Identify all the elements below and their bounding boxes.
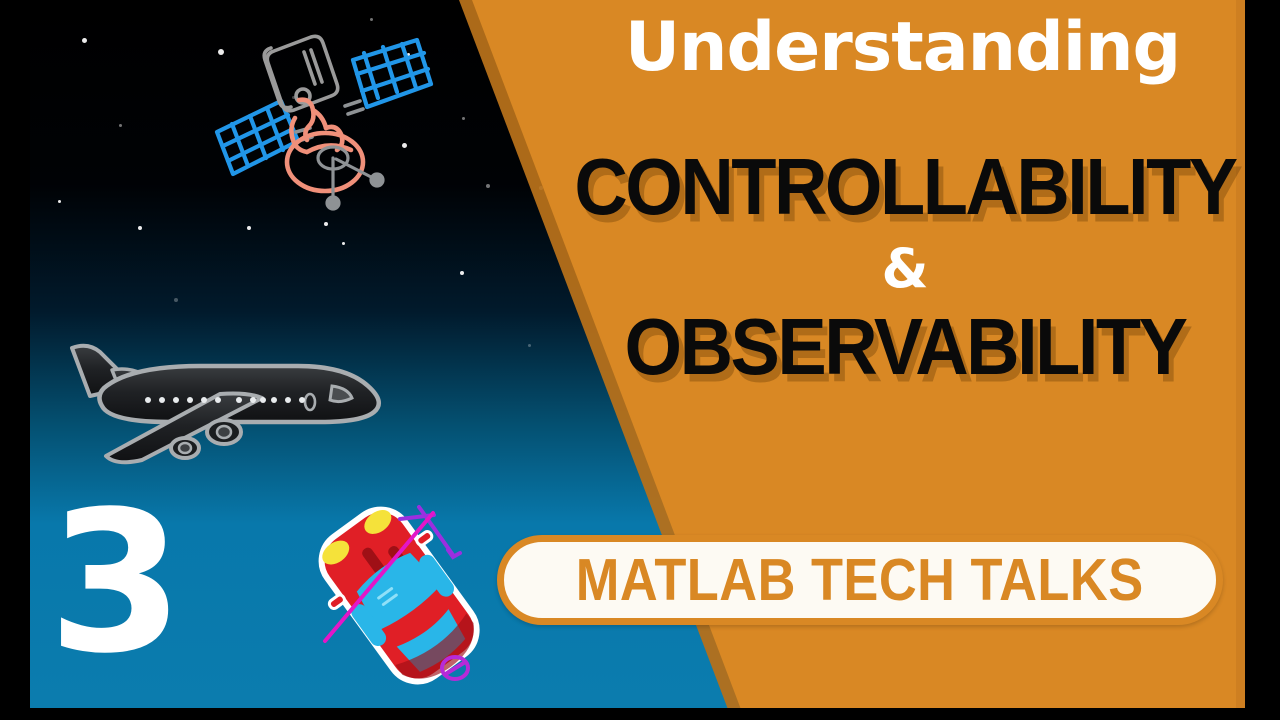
letterbox-bar-left bbox=[0, 0, 30, 720]
star bbox=[370, 18, 373, 21]
title-main-block: CONTROLLABILITY & OBSERVABILITY bbox=[555, 150, 1255, 384]
star bbox=[82, 38, 87, 43]
star bbox=[174, 298, 178, 302]
star bbox=[119, 124, 122, 127]
star bbox=[247, 226, 251, 230]
star bbox=[138, 226, 142, 230]
star bbox=[58, 200, 61, 203]
title-line-controllability: CONTROLLABILITY bbox=[555, 147, 1255, 227]
star bbox=[486, 184, 490, 188]
episode-number: 3 bbox=[48, 485, 184, 680]
title-line-observability: OBSERVABILITY bbox=[555, 307, 1255, 387]
title-eyebrow-block: Understanding bbox=[560, 14, 1245, 82]
car-icon bbox=[295, 495, 515, 685]
title-eyebrow: Understanding bbox=[560, 14, 1245, 82]
star bbox=[528, 344, 531, 347]
star bbox=[460, 271, 464, 275]
badge-label: MATLAB TECH TALKS bbox=[576, 546, 1144, 614]
satellite-illustration bbox=[205, 22, 445, 222]
thumbnail-canvas: Understanding CONTROLLABILITY & OBSERVAB… bbox=[0, 0, 1280, 720]
star bbox=[462, 117, 465, 120]
airplane-icon bbox=[52, 330, 382, 470]
car-illustration bbox=[295, 495, 515, 685]
airplane-illustration bbox=[52, 330, 382, 470]
satellite-icon bbox=[205, 22, 445, 222]
matlab-tech-talks-badge: MATLAB TECH TALKS bbox=[497, 535, 1223, 625]
star bbox=[324, 222, 328, 226]
star bbox=[342, 242, 345, 245]
title-conjunction-ampersand: & bbox=[555, 242, 1255, 296]
letterbox-bar-bottom bbox=[0, 708, 1280, 720]
